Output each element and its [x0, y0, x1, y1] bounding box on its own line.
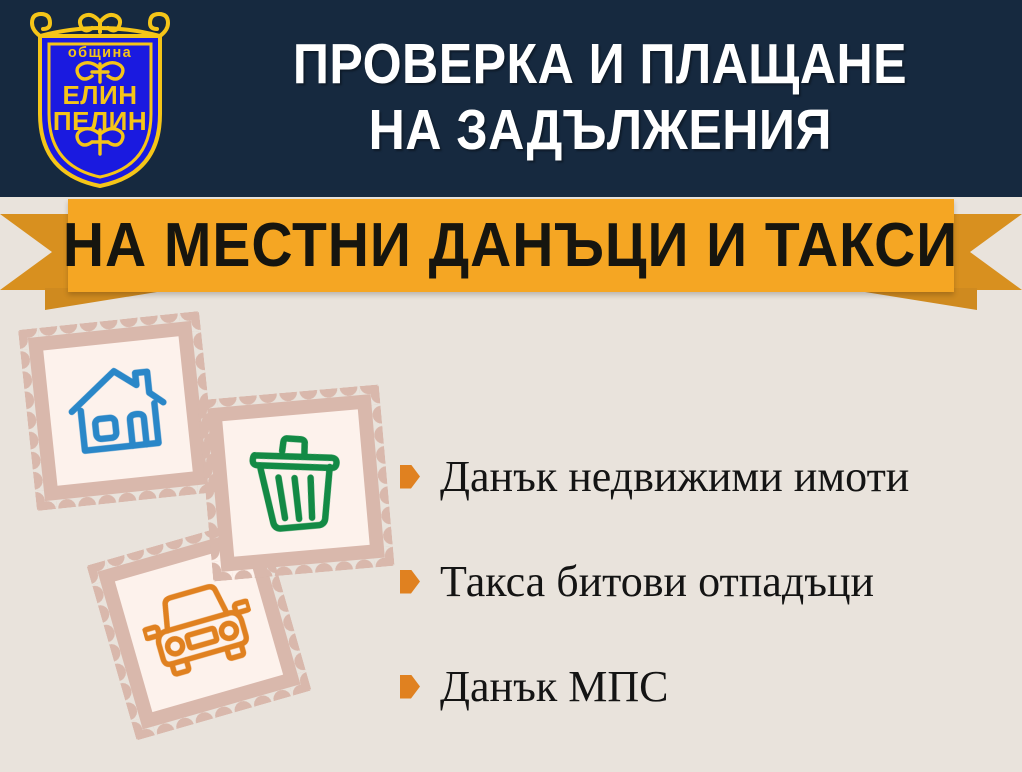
tax-types-list: Данък недвижими имоти Такса битови отпад…	[400, 424, 1010, 739]
page-title: ПРОВЕРКА И ПЛАЩАНЕ НА ЗАДЪЛЖЕНИЯ	[185, 18, 1015, 178]
trash-bin-icon	[244, 429, 348, 537]
page-title-line-2: НА ЗАДЪЛЖЕНИЯ	[368, 98, 831, 164]
list-item[interactable]: Такса битови отпадъци	[400, 529, 1010, 634]
list-item[interactable]: Данък недвижими имоти	[400, 424, 1010, 529]
municipality-crest-logo: община ЕЛИН ПЕЛИН	[22, 6, 178, 190]
ribbon-band: НА МЕСТНИ ДАНЪЦИ И ТАКСИ	[68, 199, 954, 292]
stamp-card-property-tax	[18, 311, 218, 511]
stamp-card-waste-fee	[197, 384, 394, 581]
crest-icon: община ЕЛИН ПЕЛИН	[22, 6, 178, 190]
stamp-face	[43, 336, 192, 485]
subtitle-ribbon: НА МЕСТНИ ДАНЪЦИ И ТАКСИ	[0, 196, 1022, 311]
list-item-label: Такса битови отпадъци	[440, 560, 874, 604]
poster-canvas: община ЕЛИН ПЕЛИН ПРОВЕРКА И ПЛАЩАНЕ НА …	[0, 0, 1022, 772]
crest-top-label: община	[68, 45, 132, 61]
crest-name-line2: ПЕЛИН	[53, 106, 147, 136]
stamp-face	[222, 409, 369, 556]
bullet-arrow-icon	[400, 465, 420, 489]
bullet-arrow-icon	[400, 570, 420, 594]
page-title-line-1: ПРОВЕРКА И ПЛАЩАНЕ	[293, 32, 907, 98]
bullet-arrow-icon	[400, 675, 420, 699]
list-item-label: Данък недвижими имоти	[440, 455, 909, 499]
ribbon-label: НА МЕСТНИ ДАНЪЦИ И ТАКСИ	[63, 215, 958, 277]
list-item-label: Данък МПС	[440, 665, 668, 709]
car-front-icon	[133, 569, 264, 688]
list-item[interactable]: Данък МПС	[400, 634, 1010, 739]
house-icon	[61, 358, 174, 464]
